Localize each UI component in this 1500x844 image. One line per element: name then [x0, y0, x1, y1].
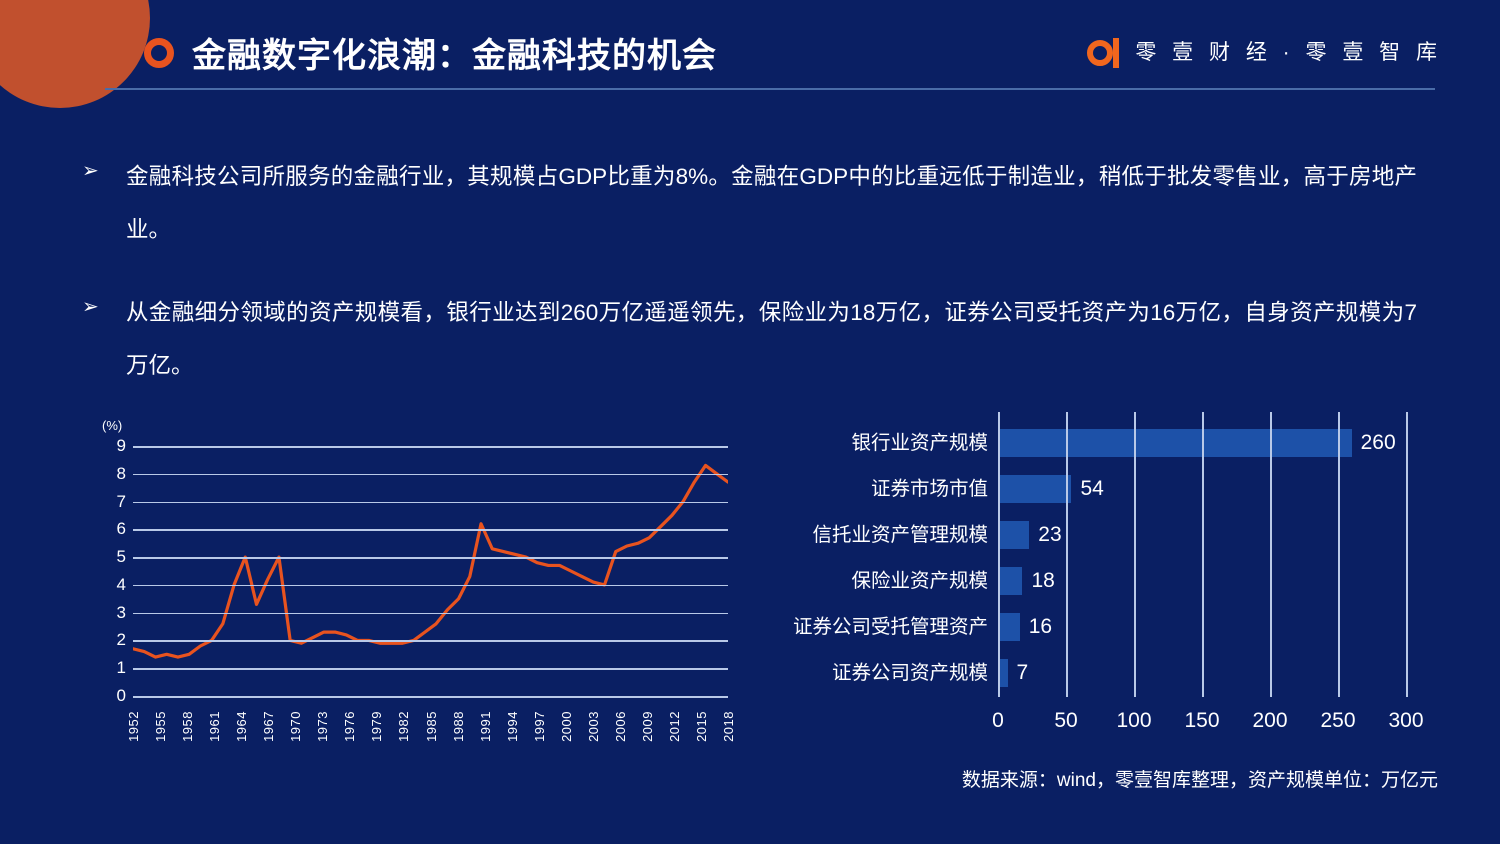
slide: 金融数字化浪潮：金融科技的机会 零 壹 财 经 · 零 壹 智 库 ➢ 金融科技…: [0, 0, 1500, 844]
bar: [998, 613, 1020, 641]
x-axis-tick-label: 50: [1054, 709, 1077, 733]
x-axis-tick-label: 1997: [532, 711, 547, 742]
x-axis-tick-label: 1955: [153, 711, 168, 742]
gridline: [133, 585, 728, 587]
y-axis-unit-label: (%): [102, 418, 122, 433]
brand-logo: 零 壹 财 经 · 零 壹 智 库: [1087, 34, 1442, 68]
bar-category-label: 证券市场市值: [760, 466, 988, 512]
x-axis-tick-label: 1952: [126, 711, 141, 742]
gridline: [1270, 412, 1272, 697]
bar-value-label: 16: [1029, 615, 1052, 639]
gridline: [133, 502, 728, 504]
y-axis-tick-label: 1: [100, 658, 126, 678]
x-axis-tick-label: 200: [1252, 709, 1287, 733]
y-axis-tick-label: 6: [100, 519, 126, 539]
gridline: [133, 474, 728, 476]
x-axis-tick-label: 2018: [721, 711, 736, 742]
bar-chart-plot-area: 260542318167: [998, 412, 1406, 697]
bar-category-label: 证券公司资产规模: [760, 650, 988, 696]
x-axis-tick-label: 1988: [451, 711, 466, 742]
x-axis-tick-label: 2015: [694, 711, 709, 742]
x-axis-tick-label: 1958: [180, 711, 195, 742]
bar-category-label: 银行业资产规模: [760, 420, 988, 466]
x-axis-tick-label: 1970: [288, 711, 303, 742]
x-axis-tick-label: 1985: [424, 711, 439, 742]
gridline: [133, 613, 728, 615]
bar-category-label: 信托业资产管理规模: [760, 512, 988, 558]
x-axis-tick-label: 1961: [207, 711, 222, 742]
gridline: [133, 640, 728, 642]
alpha-logo-icon: [1087, 34, 1121, 68]
x-axis-tick-label: 150: [1184, 709, 1219, 733]
arrow-bullet-icon: ➢: [82, 286, 126, 328]
bar-value-label: 18: [1031, 569, 1054, 593]
gridline: [133, 529, 728, 531]
x-axis-tick-label: 2003: [586, 711, 601, 742]
y-axis-tick-label: 2: [100, 630, 126, 650]
x-axis-tick-label: 300: [1388, 709, 1423, 733]
page-title: 金融数字化浪潮：金融科技的机会: [192, 28, 717, 77]
bar-category-label: 保险业资产规模: [760, 558, 988, 604]
x-axis-ticks: 1952195519581961196419671970197319761979…: [133, 703, 728, 755]
gridline: [1338, 412, 1340, 697]
gridline: [133, 668, 728, 670]
gridline: [133, 557, 728, 559]
x-axis-tick-label: 2009: [640, 711, 655, 742]
bullet-list: ➢ 金融科技公司所服务的金融行业，其规模占GDP比重为8%。金融在GDP中的比重…: [82, 150, 1417, 422]
x-axis-tick-label: 1991: [478, 711, 493, 742]
x-axis-tick-label: 1973: [315, 711, 330, 742]
bar-value-label: 260: [1361, 431, 1396, 455]
bullet-text: 金融科技公司所服务的金融行业，其规模占GDP比重为8%。金融在GDP中的比重远低…: [126, 150, 1417, 256]
bar-chart: 银行业资产规模证券市场市值信托业资产管理规模保险业资产规模证券公司受托管理资产证…: [760, 408, 1450, 753]
decorative-corner-circle: [0, 0, 150, 108]
x-axis-tick-label: 1967: [261, 711, 276, 742]
y-axis-ticks: 9876543210: [100, 446, 728, 696]
bar-x-axis-ticks: 050100150200250300: [998, 703, 1406, 743]
x-axis-tick-label: 1979: [369, 711, 384, 742]
gridline: [1066, 412, 1068, 697]
bar: [998, 429, 1352, 457]
y-axis-tick-label: 0: [100, 686, 126, 706]
gridline: [1202, 412, 1204, 697]
ring-icon: [144, 38, 174, 68]
x-axis-tick-label: 1982: [396, 711, 411, 742]
header-divider: [105, 88, 1435, 90]
list-item: ➢ 金融科技公司所服务的金融行业，其规模占GDP比重为8%。金融在GDP中的比重…: [82, 150, 1417, 256]
x-axis-tick-label: 100: [1116, 709, 1151, 733]
y-axis-tick-label: 8: [100, 464, 126, 484]
bar-category-label: 证券公司受托管理资产: [760, 604, 988, 650]
y-axis-tick-label: 7: [100, 492, 126, 512]
line-chart: (%) 9876543210 1952195519581961196419671…: [100, 408, 740, 753]
y-axis-tick-label: 3: [100, 603, 126, 623]
x-axis-tick-label: 1976: [342, 711, 357, 742]
bar: [998, 475, 1071, 503]
gridline: [133, 446, 728, 448]
arrow-bullet-icon: ➢: [82, 150, 126, 192]
gridline: [1134, 412, 1136, 697]
x-axis-tick-label: 2012: [667, 711, 682, 742]
gridline: [1406, 412, 1408, 697]
bar: [998, 521, 1029, 549]
y-axis-tick-label: 4: [100, 575, 126, 595]
y-axis-tick-label: 9: [100, 436, 126, 456]
gridline: [133, 696, 728, 698]
x-axis-tick-label: 0: [992, 709, 1004, 733]
bar: [998, 567, 1022, 595]
bar-category-labels: 银行业资产规模证券市场市值信托业资产管理规模保险业资产规模证券公司受托管理资产证…: [760, 420, 988, 696]
x-axis-tick-label: 250: [1320, 709, 1355, 733]
bar-value-label: 23: [1038, 523, 1061, 547]
brand-name: 零 壹 财 经 · 零 壹 智 库: [1135, 36, 1442, 66]
x-axis-tick-label: 2000: [559, 711, 574, 742]
gridline: [998, 412, 1000, 697]
source-note: 数据来源：wind，零壹智库整理，资产规模单位：万亿元: [962, 765, 1438, 792]
bullet-text: 从金融细分领域的资产规模看，银行业达到260万亿遥遥领先，保险业为18万亿，证券…: [126, 286, 1417, 392]
bar-value-label: 7: [1017, 661, 1029, 685]
x-axis-tick-label: 1964: [234, 711, 249, 742]
bar-value-label: 54: [1080, 477, 1103, 501]
x-axis-tick-label: 1994: [505, 711, 520, 742]
y-axis-tick-label: 5: [100, 547, 126, 567]
x-axis-tick-label: 2006: [613, 711, 628, 742]
list-item: ➢ 从金融细分领域的资产规模看，银行业达到260万亿遥遥领先，保险业为18万亿，…: [82, 286, 1417, 392]
